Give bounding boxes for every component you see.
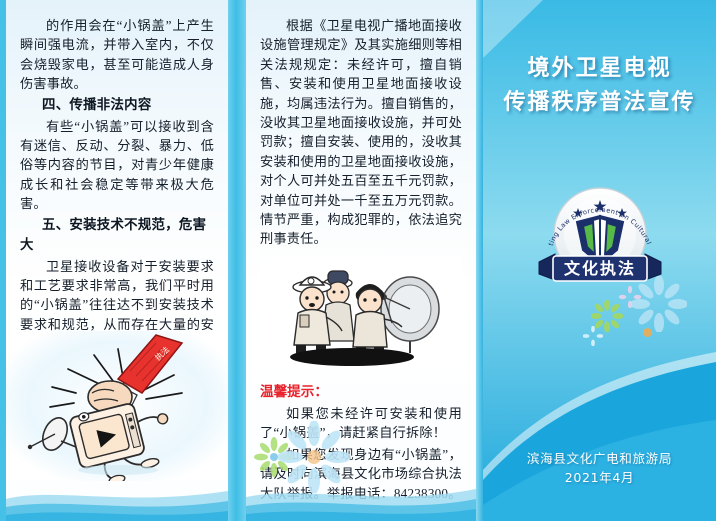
brochure-page: 的作用会在“小锅盖”上产生瞬间强电流，并带入室内，不仅会烧毁家电，甚至可能造成人…	[0, 0, 716, 521]
section-heading-five: 五、安装技术不规范，危害大	[20, 216, 214, 256]
fist-smashing-satellite-tv-cartoon: 执法	[6, 331, 228, 481]
panel2-wave-decoration	[246, 473, 476, 521]
front-cover-panel: 境外卫星电视 传播秩序普法宣传 Integrating Law Enforcem…	[483, 0, 716, 521]
cover-footer: 滨海县文化广电和旅游局 2021年4月	[483, 449, 716, 487]
cover-title: 境外卫星电视 传播秩序普法宣传	[483, 52, 716, 120]
inner-right-panel: 根据《卫星电视广播地面接收设施管理规定》及其实施细则等相关法规规定：未经许可，擅…	[246, 0, 476, 521]
cultural-law-enforcement-emblem: Integrating Law Enforcement on Cultural …	[525, 176, 675, 294]
footer-issuer: 滨海县文化广电和旅游局	[483, 449, 716, 468]
emblem-ribbon: 文化执法	[539, 254, 661, 281]
officers-inspecting-satellite-dish-cartoon	[260, 257, 462, 369]
panel-seam-middle	[228, 0, 246, 521]
tip-paragraph-1: 如果您未经许可安装和使用了“小锅盖”，请赶紧自行拆除！	[260, 404, 462, 443]
cover-title-line-2: 传播秩序普法宣传	[483, 86, 716, 120]
section-heading-four: 四、传播非法内容	[20, 96, 214, 116]
footer-date: 2021年4月	[483, 468, 716, 487]
emblem-ribbon-text: 文化执法	[563, 259, 635, 278]
tips-heading: 温馨提示：	[260, 382, 462, 402]
cover-title-line-1: 境外卫星电视	[483, 52, 716, 86]
paragraph-continued: 的作用会在“小锅盖”上产生瞬间强电流，并带入室内，不仅会烧毁家电，甚至可能造成人…	[20, 16, 214, 94]
section-four-body: 有些“小锅盖”可以接收到含有迷信、反动、分裂、暴力、低俗等内容的节目，对青少年健…	[20, 117, 214, 214]
inner-left-panel: 的作用会在“小锅盖”上产生瞬间强电流，并带入室内，不仅会烧毁家电，甚至可能造成人…	[6, 0, 228, 521]
panel1-wave-decoration	[6, 473, 228, 521]
legal-regulation-paragraph: 根据《卫星电视广播地面接收设施管理规定》及其实施细则等相关法规规定：未经许可，擅…	[260, 16, 462, 249]
panel-seam-right	[476, 0, 483, 521]
